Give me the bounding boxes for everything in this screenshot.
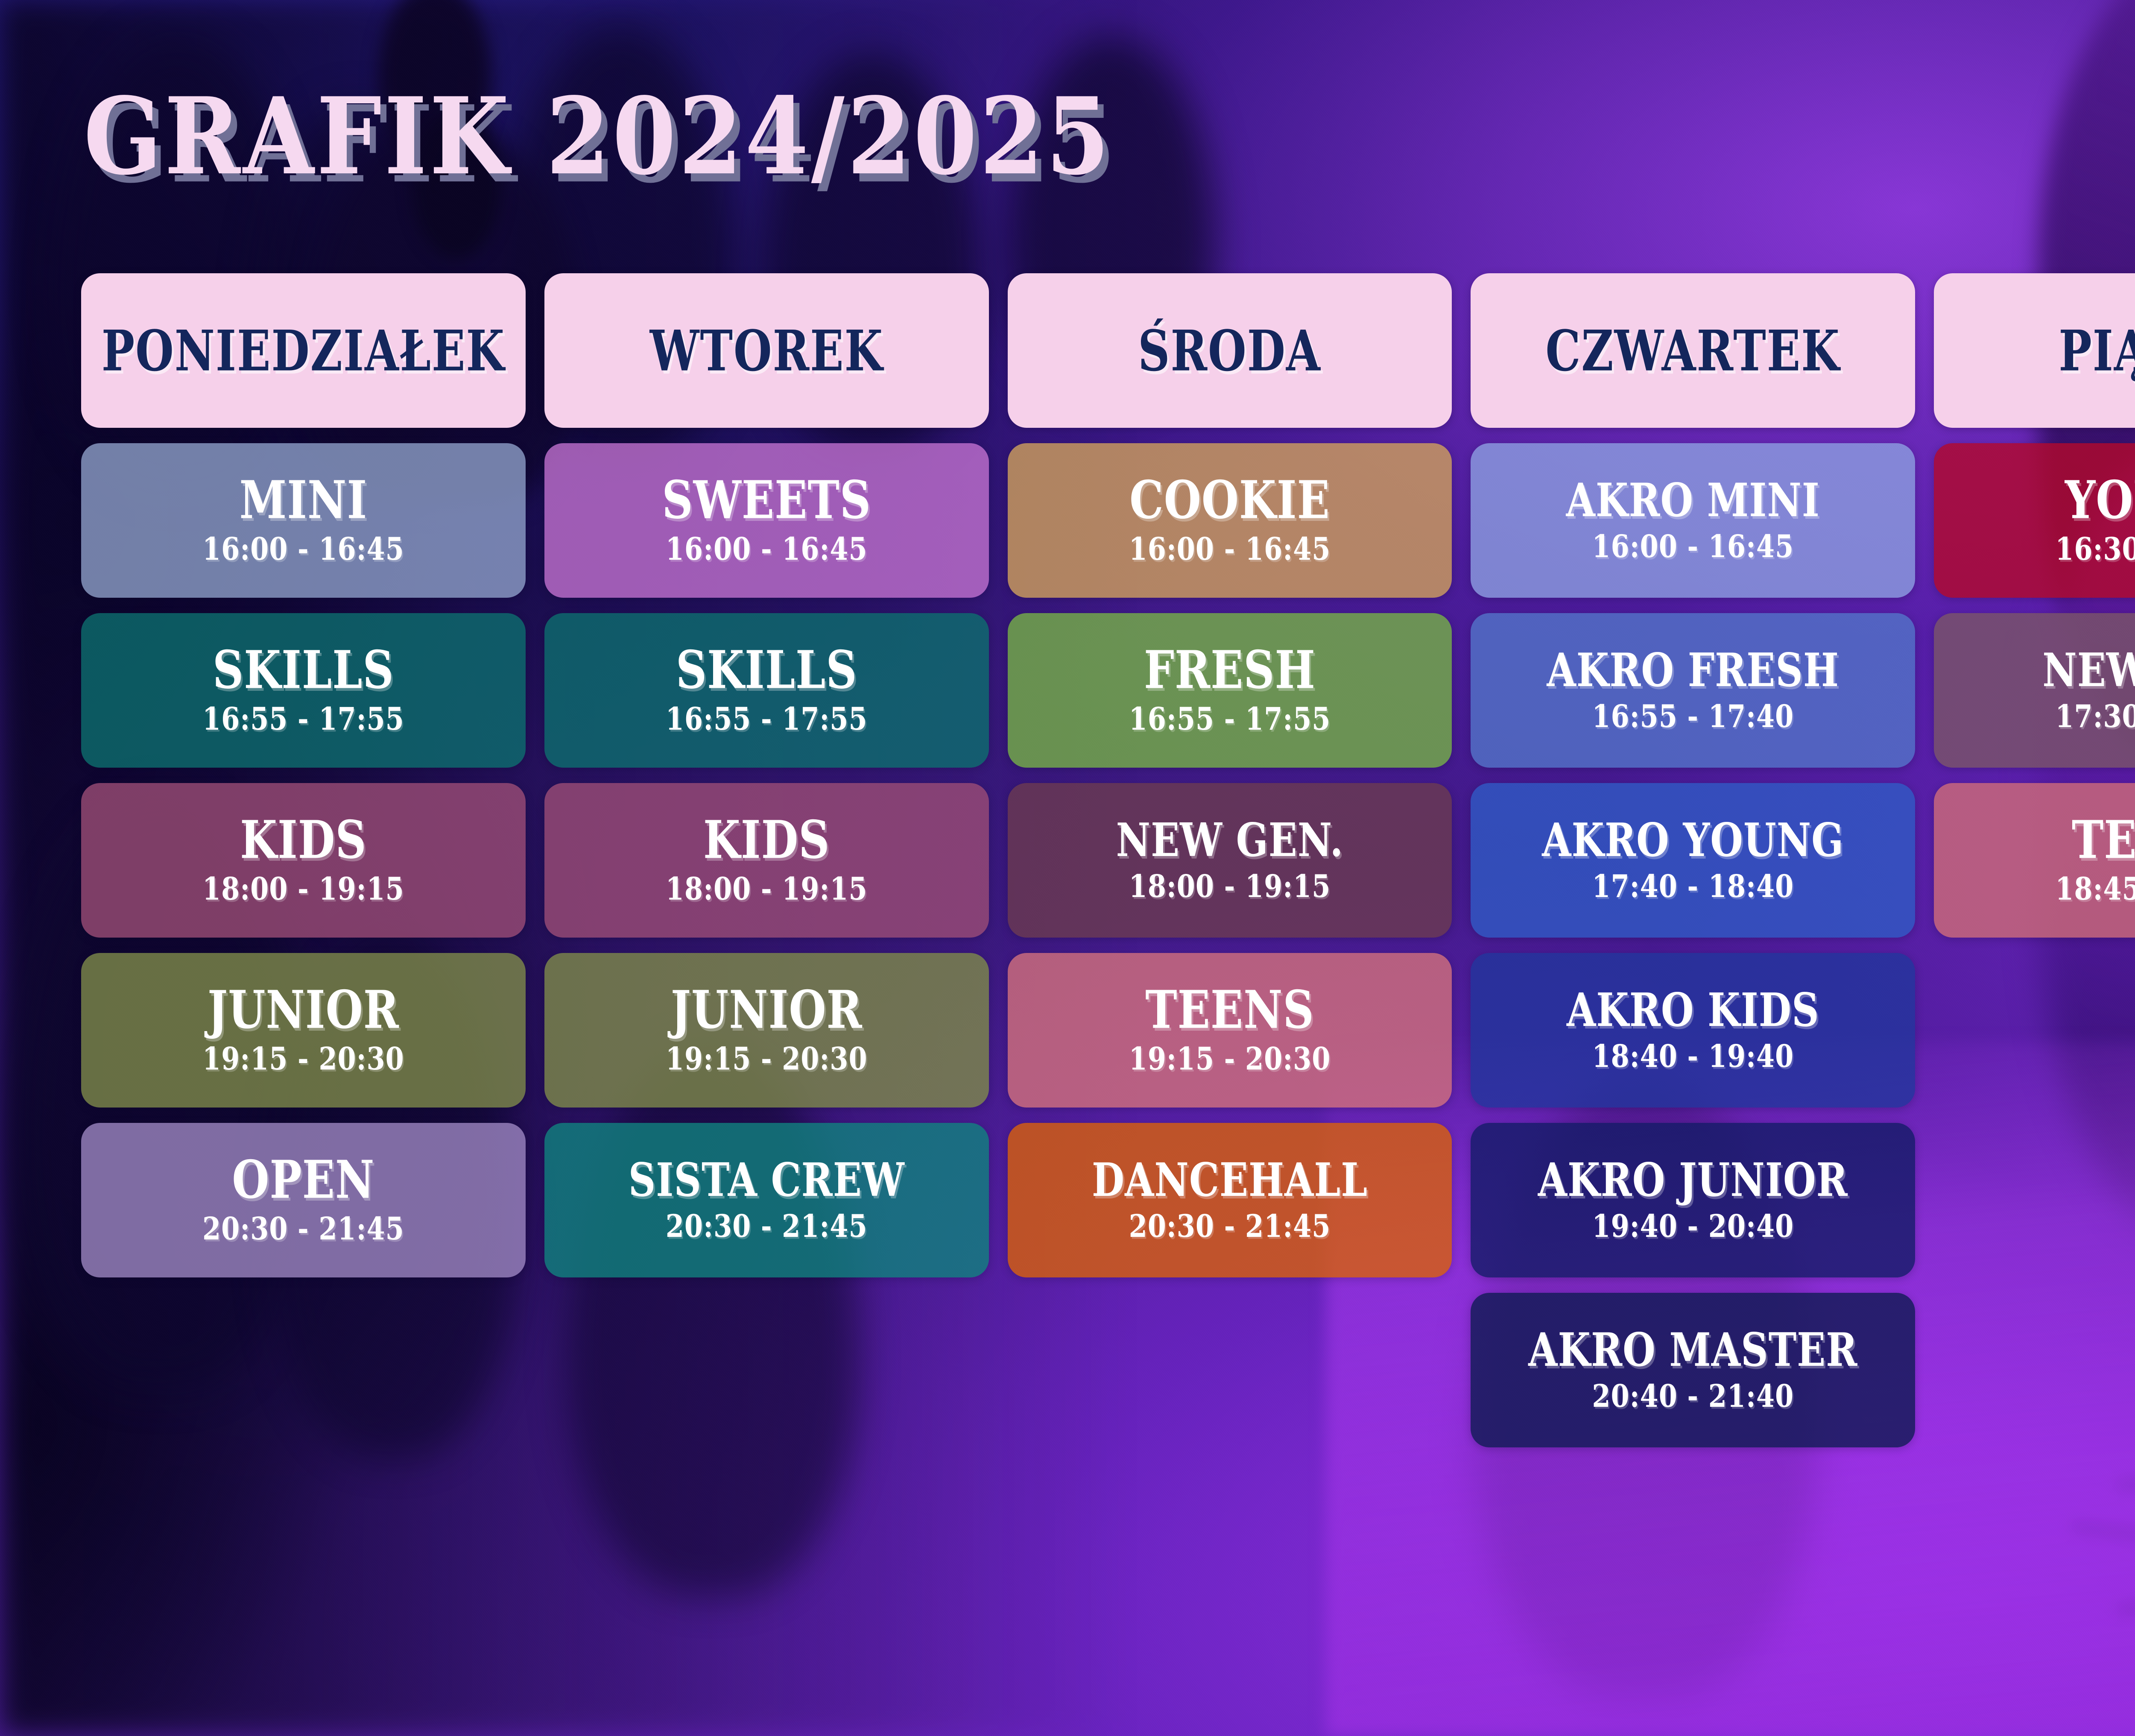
class-time: 16:00 - 16:45 [202, 533, 404, 564]
class-time: 20:30 - 21:45 [666, 1210, 868, 1242]
class-card[interactable]: COOKIE16:00 - 16:45 [1008, 443, 1452, 598]
class-time: 20:30 - 21:45 [1129, 1210, 1331, 1242]
class-name: AKRO FRESH [1547, 647, 1840, 693]
class-time: 16:55 - 17:40 [1592, 701, 1794, 732]
class-name: NEW GEN. [1116, 817, 1344, 862]
class-name: MINI [240, 474, 368, 526]
day-header-label: CZWARTEK [1546, 318, 1840, 384]
class-card[interactable]: NEW GEN.17:30 - 18:45 [1934, 613, 2135, 768]
class-time: 16:55 - 17:55 [1129, 703, 1331, 734]
class-time: 16:00 - 16:45 [1592, 531, 1794, 562]
class-name: DANCEHALL [1092, 1157, 1368, 1202]
class-name: KIDS [240, 814, 367, 866]
class-name: TEENS [1145, 984, 1314, 1036]
class-time: 17:40 - 18:40 [1592, 871, 1794, 902]
class-card[interactable]: MINI16:00 - 16:45 [81, 443, 526, 598]
class-name: YOUNG [2065, 474, 2135, 526]
class-card[interactable]: OPEN20:30 - 21:45 [81, 1123, 526, 1277]
class-time: 18:00 - 19:15 [666, 873, 868, 904]
day-header-label: PONIEDZIAŁEK [102, 318, 505, 384]
class-time: 16:30 - 17:30 [2055, 533, 2135, 564]
class-name: KIDS [703, 814, 830, 866]
empty-slot [1934, 953, 2135, 1108]
class-name: JUNIOR [208, 984, 399, 1036]
class-name: AKRO MINI [1566, 477, 1820, 523]
empty-slot [1934, 1123, 2135, 1277]
class-name: SKILLS [676, 644, 857, 696]
class-time: 20:40 - 21:40 [1592, 1380, 1794, 1412]
class-card[interactable]: TEENS19:15 - 20:30 [1008, 953, 1452, 1108]
empty-slot [544, 1293, 989, 1447]
class-card[interactable]: SISTA CREW20:30 - 21:45 [544, 1123, 989, 1277]
class-card[interactable]: SWEETS16:00 - 16:45 [544, 443, 989, 598]
class-card[interactable]: TEENS18:45 - 20:00 [1934, 783, 2135, 938]
class-card[interactable]: AKRO KIDS18:40 - 19:40 [1471, 953, 1915, 1108]
class-card[interactable]: AKRO MASTER20:40 - 21:40 [1471, 1293, 1915, 1447]
day-header-piatek: PIĄTEK [1934, 273, 2135, 428]
class-card[interactable]: KIDS18:00 - 19:15 [81, 783, 526, 938]
class-time: 16:00 - 16:45 [666, 533, 868, 564]
class-name: SWEETS [662, 474, 871, 526]
class-time: 16:00 - 16:45 [1129, 533, 1331, 564]
class-card[interactable]: JUNIOR19:15 - 20:30 [81, 953, 526, 1108]
class-time: 19:15 - 20:30 [666, 1043, 868, 1074]
day-header-label: PIĄTEK [2059, 318, 2135, 384]
class-card[interactable]: AKRO MINI16:00 - 16:45 [1471, 443, 1915, 598]
class-name: OPEN [232, 1154, 374, 1206]
class-name: SISTA CREW [629, 1157, 905, 1202]
class-name: AKRO KIDS [1567, 987, 1819, 1032]
class-card[interactable]: SKILLS16:55 - 17:55 [544, 613, 989, 768]
class-name: AKRO MASTER [1528, 1327, 1857, 1372]
class-time: 18:00 - 19:15 [1129, 871, 1331, 902]
class-card[interactable]: JUNIOR19:15 - 20:30 [544, 953, 989, 1108]
class-time: 18:40 - 19:40 [1592, 1040, 1794, 1072]
schedule-poster: GRAFIK 2024/2025 PONIEDZIAŁEK WTOREK ŚRO… [0, 0, 2135, 1736]
schedule-grid: PONIEDZIAŁEK WTOREK ŚRODA CZWARTEK PIĄTE… [81, 273, 2135, 1447]
class-card[interactable]: NEW GEN.18:00 - 19:15 [1008, 783, 1452, 938]
class-name: AKRO YOUNG [1542, 817, 1844, 862]
class-time: 20:30 - 21:45 [202, 1213, 404, 1244]
class-card[interactable]: AKRO YOUNG17:40 - 18:40 [1471, 783, 1915, 938]
class-time: 19:40 - 20:40 [1592, 1210, 1794, 1242]
class-name: FRESH [1144, 644, 1316, 696]
class-card[interactable]: FRESH16:55 - 17:55 [1008, 613, 1452, 768]
class-card[interactable]: YOUNG16:30 - 17:30 [1934, 443, 2135, 598]
class-time: 19:15 - 20:30 [1129, 1043, 1331, 1074]
day-header-label: WTOREK [650, 318, 883, 384]
class-name: JUNIOR [671, 984, 863, 1036]
class-card[interactable]: AKRO JUNIOR19:40 - 20:40 [1471, 1123, 1915, 1277]
day-header-label: ŚRODA [1138, 318, 1322, 384]
class-time: 19:15 - 20:30 [202, 1043, 404, 1074]
class-name: COOKIE [1129, 474, 1330, 526]
class-time: 17:30 - 18:45 [2055, 701, 2135, 732]
day-header-poniedzialek: PONIEDZIAŁEK [81, 273, 526, 428]
empty-slot [81, 1293, 526, 1447]
class-name: SKILLS [213, 644, 394, 696]
empty-slot [1934, 1293, 2135, 1447]
class-card[interactable]: AKRO FRESH16:55 - 17:40 [1471, 613, 1915, 768]
class-time: 18:45 - 20:00 [2055, 873, 2135, 904]
class-card[interactable]: SKILLS16:55 - 17:55 [81, 613, 526, 768]
day-header-czwartek: CZWARTEK [1471, 273, 1915, 428]
class-name: NEW GEN. [2042, 647, 2135, 693]
page-title: GRAFIK 2024/2025 [84, 84, 1112, 190]
class-time: 16:55 - 17:55 [666, 703, 868, 734]
class-name: TEENS [2072, 814, 2135, 866]
class-card[interactable]: DANCEHALL20:30 - 21:45 [1008, 1123, 1452, 1277]
class-time: 18:00 - 19:15 [202, 873, 404, 904]
empty-slot [1008, 1293, 1452, 1447]
day-header-wtorek: WTOREK [544, 273, 989, 428]
day-header-sroda: ŚRODA [1008, 273, 1452, 428]
class-card[interactable]: KIDS18:00 - 19:15 [544, 783, 989, 938]
class-name: AKRO JUNIOR [1538, 1157, 1848, 1202]
class-time: 16:55 - 17:55 [202, 703, 404, 734]
